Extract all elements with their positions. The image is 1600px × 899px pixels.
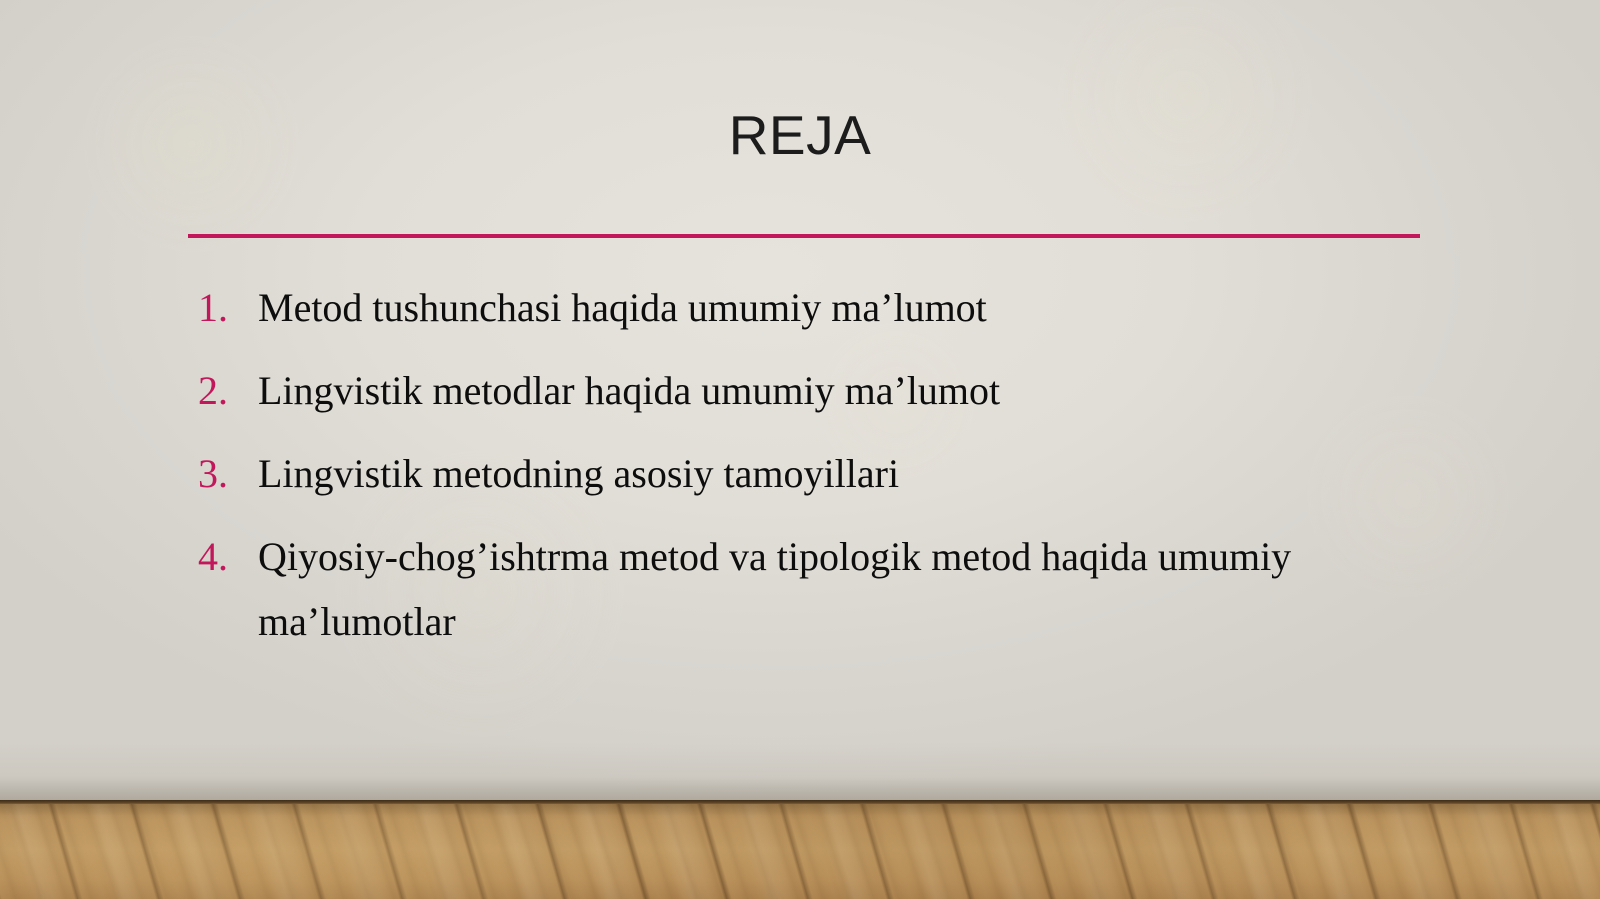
list-item: 4. Qiyosiy-chog’ishtrma metod va tipolog… (188, 524, 1478, 654)
presentation-slide: REJA 1. Metod tushunchasi haqida umumiy … (0, 0, 1600, 899)
agenda-list: 1. Metod tushunchasi haqida umumiy ma’lu… (188, 275, 1478, 672)
list-item-marker: 4. (198, 524, 244, 589)
list-item-text: Metod tushunchasi haqida umumiy ma’lumot (258, 275, 1478, 340)
list-item-text: Qiyosiy-chog’ishtrma metod va tipologik … (258, 524, 1478, 654)
list-item-marker: 3. (198, 441, 244, 506)
list-item: 2. Lingvistik metodlar haqida umumiy ma’… (188, 358, 1478, 423)
list-item-text: Lingvistik metodning asosiy tamoyillari (258, 441, 1478, 506)
slide-title: REJA (0, 102, 1600, 168)
list-item-marker: 2. (198, 358, 244, 423)
list-item: 1. Metod tushunchasi haqida umumiy ma’lu… (188, 275, 1478, 340)
title-divider-line (188, 234, 1420, 238)
slide-content: REJA 1. Metod tushunchasi haqida umumiy … (0, 0, 1600, 899)
list-item-text: Lingvistik metodlar haqida umumiy ma’lum… (258, 358, 1478, 423)
list-item-marker: 1. (198, 275, 244, 340)
list-item: 3. Lingvistik metodning asosiy tamoyilla… (188, 441, 1478, 506)
